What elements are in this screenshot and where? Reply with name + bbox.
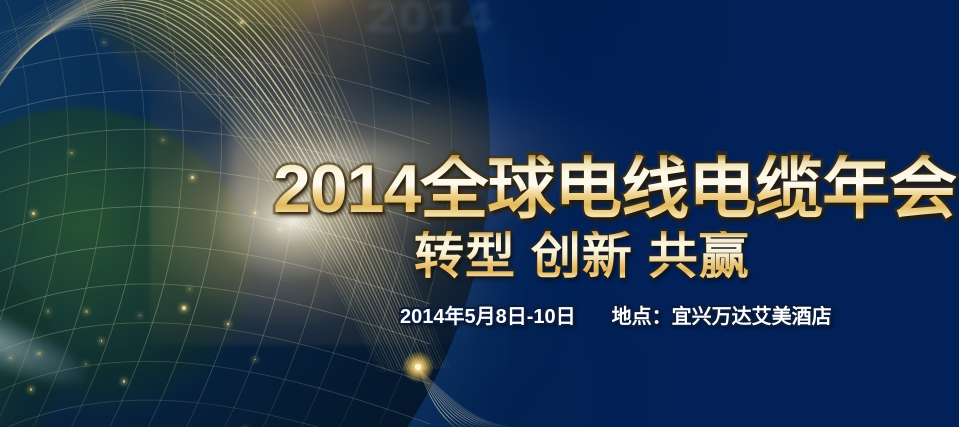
page-title: 2014全球电线电缆年会 <box>273 155 956 223</box>
event-banner: 2014 2014全球电线电缆年会 2014全球电线电缆年会 转型 创新 共赢 … <box>0 0 959 427</box>
text-block: 2014 2014全球电线电缆年会 2014全球电线电缆年会 转型 创新 共赢 … <box>0 0 959 427</box>
page-subtitle: 转型 创新 共赢 <box>414 231 750 281</box>
event-venue: 地点：宜兴万达艾美酒店 <box>612 306 832 328</box>
event-date: 2014年5月8日-10日 <box>400 306 576 328</box>
event-info-line: 2014年5月8日-10日地点：宜兴万达艾美酒店 <box>400 305 832 329</box>
title-ghost-reflection: 2014 <box>366 0 494 42</box>
